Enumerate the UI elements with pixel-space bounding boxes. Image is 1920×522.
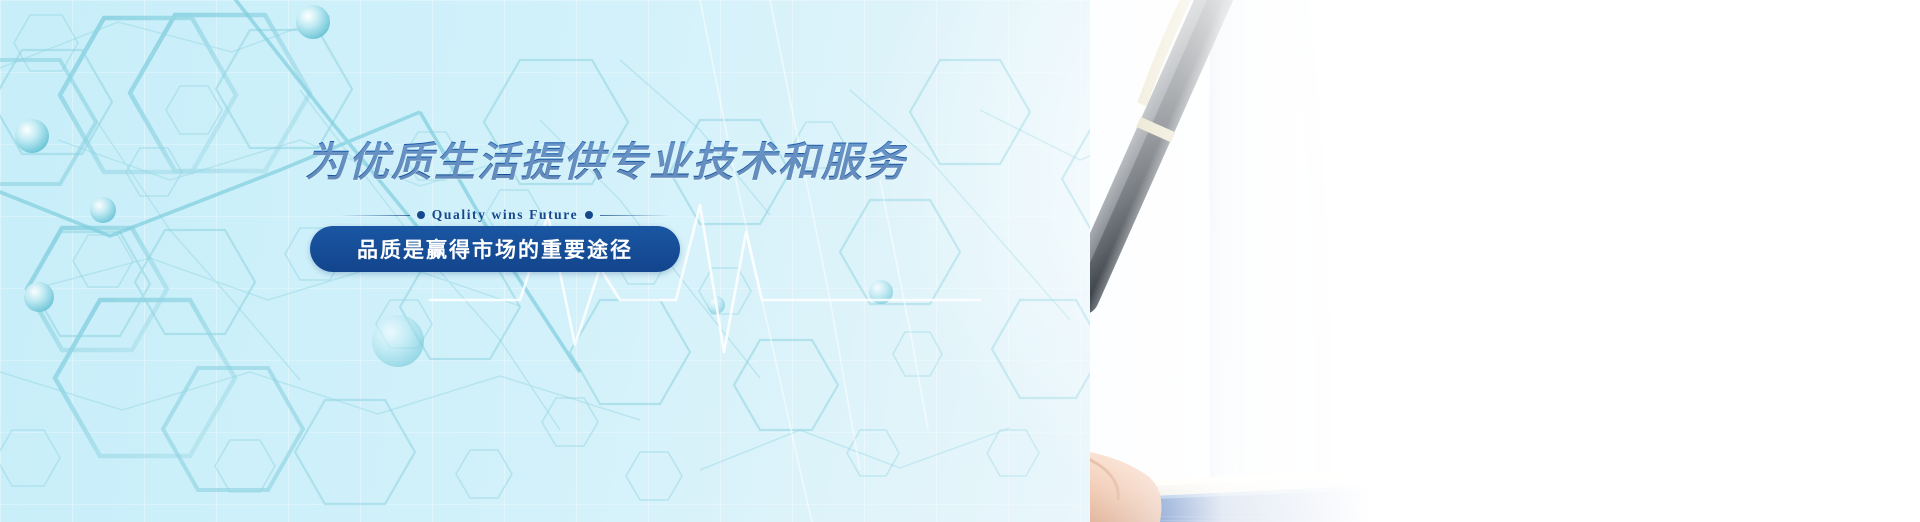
photo-fade-overlay — [1090, 0, 1920, 522]
tagline-rule-left — [340, 215, 410, 216]
cta-pill-button[interactable]: 品质是赢得市场的重要途径 — [310, 226, 680, 272]
tagline-rule-right — [600, 215, 670, 216]
tagline-dot-left-icon — [417, 211, 425, 219]
cta-label: 品质是赢得市场的重要途径 — [357, 234, 633, 264]
banner-tagline-en: Quality wins Future — [432, 207, 578, 223]
banner-content: 为优质生活提供专业技术和服务 Quality wins Future 品质是赢得… — [0, 0, 860, 522]
hero-banner: 为优质生活提供专业技术和服务 Quality wins Future 品质是赢得… — [0, 0, 1920, 522]
doctor-photo — [1090, 0, 1920, 522]
tagline-dot-right-icon — [585, 211, 593, 219]
tagline-row: Quality wins Future — [340, 203, 670, 227]
banner-headline: 为优质生活提供专业技术和服务 — [305, 128, 907, 188]
